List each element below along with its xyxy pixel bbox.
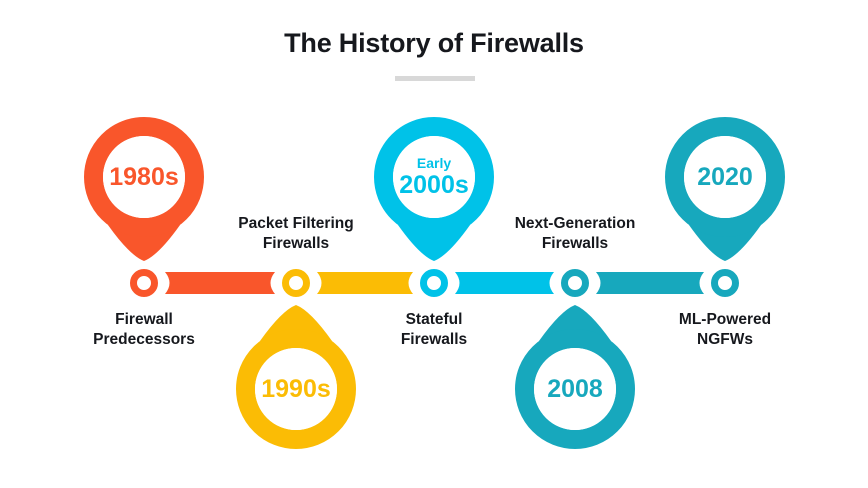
timeline-node-ring xyxy=(424,273,445,294)
timeline-node-ring xyxy=(715,273,736,294)
timeline-segment xyxy=(165,272,275,294)
timeline-segment xyxy=(596,272,704,294)
timeline-pin xyxy=(94,127,195,262)
stage-label: Stateful Firewalls xyxy=(334,310,534,350)
timeline-pin xyxy=(525,305,626,440)
pin-inner-disc xyxy=(534,348,616,430)
stage-label: ML-Powered NGFWs xyxy=(625,310,825,350)
stage-label: Firewall Predecessors xyxy=(44,310,244,350)
timeline-infographic: The History of Firewalls 1980s1990sEarly… xyxy=(0,0,868,488)
pin-inner-disc xyxy=(684,136,766,218)
timeline-segment xyxy=(317,272,413,294)
timeline-node-ring xyxy=(134,273,155,294)
timeline-node-ring xyxy=(565,273,586,294)
stage-label: Packet Filtering Firewalls xyxy=(196,214,396,254)
stage-label: Next-Generation Firewalls xyxy=(475,214,675,254)
timeline-pin xyxy=(246,305,347,440)
timeline-graphic xyxy=(0,0,868,488)
timeline-pin xyxy=(675,127,776,262)
timeline-node-ring xyxy=(286,273,307,294)
timeline-segment xyxy=(455,272,554,294)
pin-inner-disc xyxy=(103,136,185,218)
pin-inner-disc xyxy=(393,136,475,218)
pin-inner-disc xyxy=(255,348,337,430)
timeline-pin xyxy=(384,127,485,262)
